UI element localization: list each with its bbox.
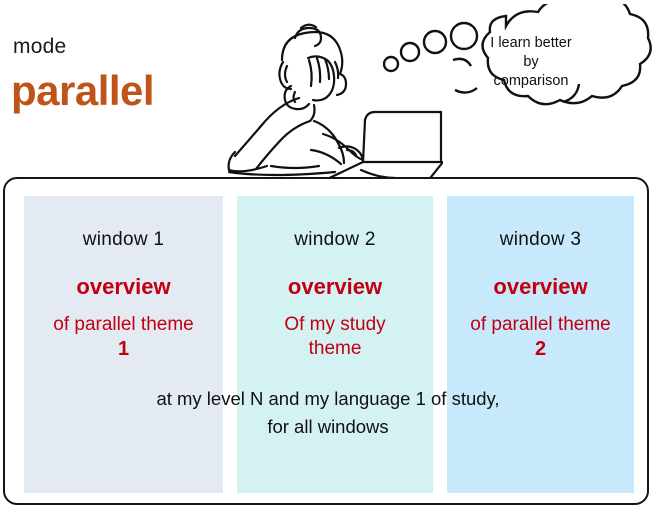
window-column-2[interactable]: window 2 overview Of my study theme	[237, 196, 433, 493]
window-3-subtitle: of parallel theme 2	[447, 313, 634, 362]
thought-bubble-line-1: I learn better	[461, 34, 601, 53]
window-2-heading: overview	[237, 274, 433, 300]
header: mode parallel	[0, 0, 656, 177]
window-columns: window 1 overview of parallel theme 1 wi…	[5, 179, 651, 507]
mode-value: parallel	[11, 66, 154, 116]
thought-bubble-text: I learn better by comparison	[461, 34, 601, 91]
thought-bubble-line-3: comparison	[461, 72, 601, 91]
window-1-subtitle-text: of parallel theme	[53, 314, 193, 335]
window-3-heading: overview	[447, 274, 634, 300]
window-column-3-content: window 3 overview of parallel theme 2	[447, 196, 634, 362]
window-1-subtitle: of parallel theme 1	[24, 313, 223, 362]
windows-panel: window 1 overview of parallel theme 1 wi…	[3, 177, 649, 505]
window-2-subtitle-text: Of my study	[284, 314, 385, 335]
window-2-subtitle: Of my study theme	[237, 313, 433, 361]
window-2-number: theme	[237, 337, 433, 361]
thought-bubble-line-2: by	[461, 53, 601, 72]
window-column-1-content: window 1 overview of parallel theme 1	[24, 196, 223, 362]
window-column-2-content: window 2 overview Of my study theme	[237, 196, 433, 361]
window-column-1[interactable]: window 1 overview of parallel theme 1	[24, 196, 223, 493]
window-3-subtitle-text: of parallel theme	[470, 314, 610, 335]
window-3-number: 2	[447, 337, 634, 362]
window-1-heading: overview	[24, 274, 223, 300]
mode-label: mode	[13, 35, 66, 59]
window-column-3[interactable]: window 3 overview of parallel theme 2	[447, 196, 634, 493]
thought-bubble: I learn better by comparison	[383, 4, 656, 149]
window-1-title: window 1	[24, 228, 223, 252]
window-1-number: 1	[24, 337, 223, 362]
window-2-title: window 2	[237, 228, 433, 252]
window-3-title: window 3	[447, 228, 634, 252]
